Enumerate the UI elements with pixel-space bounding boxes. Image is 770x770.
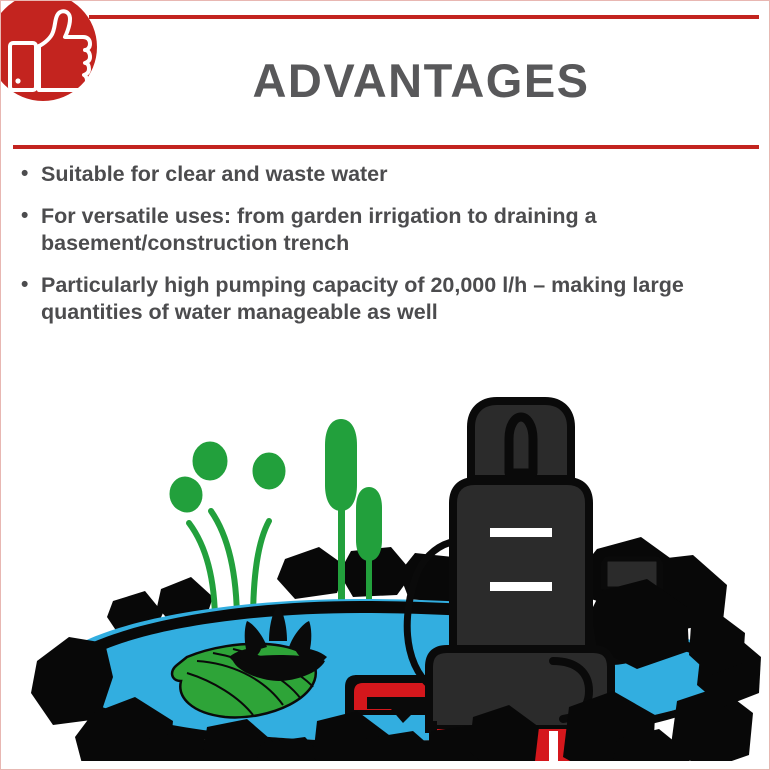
header-bottom-rule xyxy=(13,145,759,149)
pond-pump-scene xyxy=(1,361,770,761)
list-item: • Particularly high pumping capacity of … xyxy=(21,272,761,327)
pump-vent-slot xyxy=(490,528,552,537)
page-title: ADVANTAGES xyxy=(91,57,751,104)
list-item-text: For versatile uses: from garden irrigati… xyxy=(41,203,761,258)
thumbs-up-badge xyxy=(0,0,97,101)
bullet-marker: • xyxy=(21,161,41,188)
header-top-rule xyxy=(89,15,759,19)
list-item: • Suitable for clear and waste water xyxy=(21,161,761,189)
list-item-text: Particularly high pumping capacity of 20… xyxy=(41,272,761,327)
list-item: • For versatile uses: from garden irriga… xyxy=(21,203,761,258)
advantages-list: • Suitable for clear and waste water • F… xyxy=(21,161,761,341)
bullet-marker: • xyxy=(21,272,41,299)
product-illustration xyxy=(1,361,770,761)
advantages-panel: ADVANTAGES • Suitable for clear and wast… xyxy=(0,0,770,770)
panel-header: ADVANTAGES xyxy=(1,1,770,141)
thumbs-up-icon xyxy=(0,0,97,101)
list-item-text: Suitable for clear and waste water xyxy=(41,161,761,189)
pump-vent-slot xyxy=(490,582,552,591)
bullet-marker: • xyxy=(21,203,41,230)
